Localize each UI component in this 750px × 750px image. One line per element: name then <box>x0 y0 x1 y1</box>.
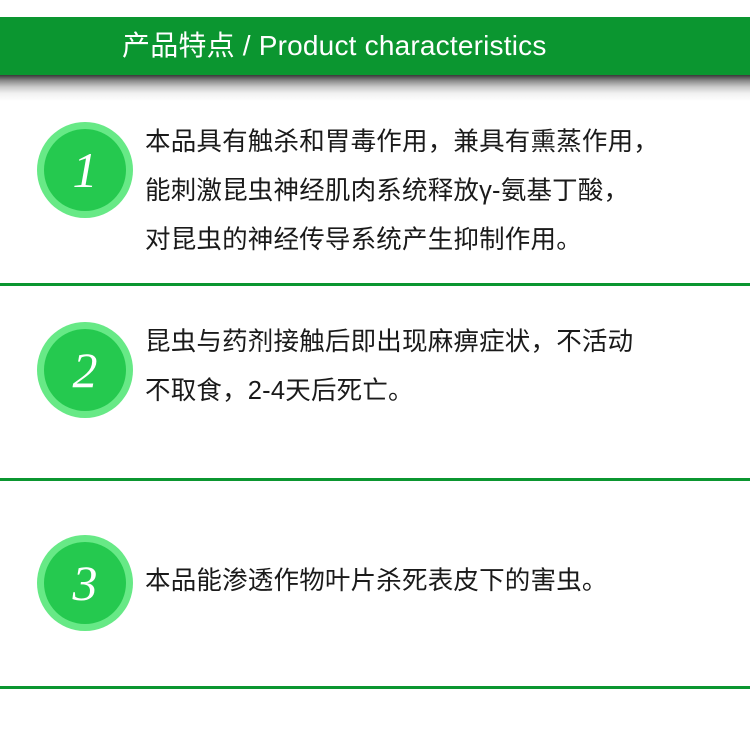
feature-item-1: 1 本品具有触杀和胃毒作用，兼具有熏蒸作用， 能刺激昆虫神经肌肉系统释放γ-氨基… <box>0 118 750 278</box>
feature-item-3: 3 本品能渗透作物叶片杀死表皮下的害虫。 <box>0 531 750 681</box>
feature-text-1: 本品具有触杀和胃毒作用，兼具有熏蒸作用， 能刺激昆虫神经肌肉系统释放γ-氨基丁酸… <box>145 118 726 265</box>
number-badge-inner-3: 3 <box>44 542 126 624</box>
feature-text-line: 昆虫与药剂接触后即出现麻痹症状，不活动 <box>145 318 726 367</box>
product-characteristics-page: 产品特点 / Product characteristics 1 本品具有触杀和… <box>0 0 750 750</box>
feature-text-line: 对昆虫的神经传导系统产生抑制作用。 <box>145 216 726 265</box>
feature-text-line: 本品能渗透作物叶片杀死表皮下的害虫。 <box>145 557 726 606</box>
feature-item-2: 2 昆虫与药剂接触后即出现麻痹症状，不活动 不取食，2-4天后死亡。 <box>0 318 750 468</box>
feature-text-2: 昆虫与药剂接触后即出现麻痹症状，不活动 不取食，2-4天后死亡。 <box>145 318 726 416</box>
page-header: 产品特点 / Product characteristics <box>0 17 750 75</box>
feature-text-line: 本品具有触杀和胃毒作用，兼具有熏蒸作用， <box>145 118 726 167</box>
feature-text-3: 本品能渗透作物叶片杀死表皮下的害虫。 <box>145 531 726 606</box>
header-drop-shadow <box>0 75 750 101</box>
feature-text-line: 能刺激昆虫神经肌肉系统释放γ-氨基丁酸， <box>145 167 726 216</box>
number-badge-2: 2 <box>37 322 133 418</box>
number-badge-inner-1: 1 <box>44 129 126 211</box>
number-badge-3: 3 <box>37 535 133 631</box>
section-divider-2 <box>0 478 750 481</box>
number-badge-label-1: 1 <box>44 129 126 211</box>
number-badge-label-3: 3 <box>44 542 126 624</box>
section-divider-3 <box>0 686 750 689</box>
page-title: 产品特点 / Product characteristics <box>122 17 547 75</box>
number-badge-label-2: 2 <box>44 329 126 411</box>
number-badge-1: 1 <box>37 122 133 218</box>
section-divider-1 <box>0 283 750 286</box>
number-badge-inner-2: 2 <box>44 329 126 411</box>
feature-text-line: 不取食，2-4天后死亡。 <box>145 367 726 416</box>
